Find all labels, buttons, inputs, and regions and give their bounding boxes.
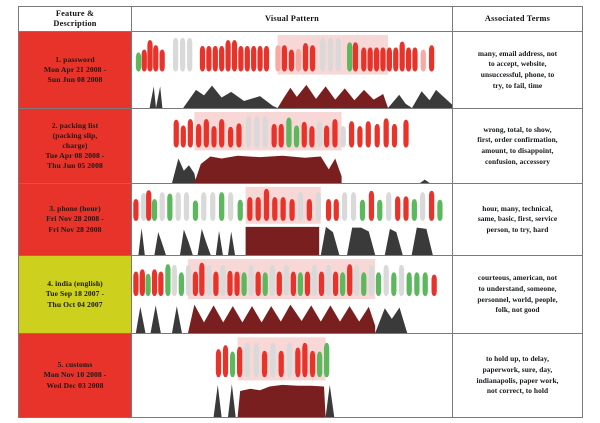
pattern-bar [246, 116, 251, 147]
pattern-bar [238, 200, 243, 221]
feature-cell-3: 3. phone (hour) Fri Nov 28 2008 - Fri No… [19, 184, 132, 256]
pattern-bar [349, 121, 354, 147]
pattern-bar [407, 272, 412, 296]
pattern-bar [324, 125, 329, 147]
terms-line: courteous, american, not [453, 273, 582, 284]
pattern-bar [361, 272, 366, 296]
pattern-bar [303, 43, 308, 71]
pattern-bar [211, 126, 216, 147]
visual-pattern-cell-3 [132, 184, 453, 256]
terms-line: unsuccessful, phone, to [453, 70, 582, 81]
pattern-bar [376, 272, 381, 296]
pattern-bar [414, 272, 419, 296]
pattern-bar [287, 343, 292, 377]
pattern-bar [406, 47, 411, 71]
terms-line: personnel, world, people, [453, 295, 582, 306]
pattern-svg [132, 32, 452, 108]
pattern-bar [223, 345, 228, 377]
pattern-bar [145, 274, 150, 296]
pattern-bar [399, 265, 404, 296]
column-header-feature-line1: Feature & [19, 9, 131, 19]
pattern-bar [429, 191, 434, 221]
terms-line: not correct, to hold [453, 386, 582, 397]
pattern-bar [236, 123, 241, 147]
pattern-bar [256, 272, 261, 296]
pattern-bar [213, 272, 218, 296]
terms-line: to hold up, to delay, [453, 354, 582, 365]
pattern-bar [368, 47, 373, 71]
pattern-bar [295, 348, 300, 377]
terms-line: paperwork, sure, day, [453, 365, 582, 376]
pattern-bar [204, 119, 209, 147]
pattern-bar [180, 38, 185, 72]
pattern-bar [165, 264, 170, 296]
pattern-bar [320, 38, 325, 72]
visual-pattern-cell-1 [132, 32, 453, 109]
pattern-bar [146, 190, 151, 221]
feature-title-5: 5. customs [19, 360, 131, 370]
pattern-bar [275, 45, 280, 71]
pattern-bar [210, 192, 215, 221]
pattern-bar [206, 265, 211, 296]
pattern-bar [360, 200, 365, 221]
area-series-highlight [194, 156, 341, 183]
associated-terms-cell-5: to hold up, to delay, paperwork, sure, d… [453, 334, 583, 418]
pattern-bar [305, 272, 310, 296]
pattern-bar [395, 196, 400, 221]
pattern-bar [333, 272, 338, 296]
feature-title-2: 2. packing list [19, 121, 131, 131]
pattern-bar [307, 199, 312, 221]
pattern-bar [317, 352, 322, 377]
pattern-bar [160, 50, 165, 72]
pattern-bar [369, 265, 374, 296]
pattern-bar [326, 265, 331, 296]
pattern-bar [272, 124, 277, 147]
pattern-bar [420, 192, 425, 221]
feature-subtitle-2-line2: charge) [19, 141, 131, 151]
visual-pattern-table-page: Feature & Description Visual Pattern Ass… [0, 0, 600, 423]
terms-line: to understand, someone, [453, 284, 582, 295]
terms-line: same, basic, first, service [453, 214, 582, 225]
pattern-bar [160, 192, 165, 221]
pattern-bar [341, 126, 346, 147]
feature-title-4: 4. india (english) [19, 279, 131, 289]
feature-date-start-4: Tue Sep 18 2007 - [19, 289, 131, 299]
area-series-highlight [246, 227, 320, 255]
pattern-chart-2 [132, 109, 452, 183]
pattern-bar [291, 272, 296, 296]
feature-date-start-1: Mon Apr 21 2008 - [19, 65, 131, 75]
pattern-bar [142, 50, 147, 72]
pattern-bar [228, 127, 233, 148]
pattern-bar [340, 272, 345, 296]
pattern-bar [213, 46, 218, 72]
feature-subtitle-2-line1: (packing slip, [19, 131, 131, 141]
pattern-bar [336, 38, 341, 72]
pattern-bar [179, 272, 184, 296]
pattern-bar [230, 352, 235, 377]
pattern-bar [238, 46, 243, 72]
pattern-bar [432, 275, 437, 296]
feature-title-1: 1. password [19, 55, 131, 65]
pattern-svg [132, 334, 452, 417]
pattern-chart-5 [132, 334, 452, 417]
pattern-bar [228, 192, 233, 221]
pattern-bar [152, 269, 157, 296]
pattern-bar [342, 192, 347, 221]
pattern-bar [262, 351, 267, 377]
pattern-bar [245, 343, 250, 377]
pattern-bar [334, 199, 339, 221]
pattern-bar [400, 42, 405, 72]
pattern-bar [256, 197, 261, 221]
feature-cell-5: 5. customs Mon Nov 10 2008 - Wed Dec 03 … [19, 334, 132, 418]
pattern-bar [167, 194, 172, 221]
pattern-svg [132, 184, 452, 255]
pattern-bar [181, 125, 186, 147]
pattern-bar [219, 119, 224, 147]
pattern-bar [369, 191, 374, 221]
pattern-bar [187, 38, 192, 72]
feature-date-start-5: Mon Nov 10 2008 - [19, 370, 131, 380]
feature-date-end-2: Thu Jun 05 2008 [19, 161, 131, 171]
pattern-bar [172, 265, 177, 296]
terms-line: try, to fail, time [453, 81, 582, 92]
terms-line: person, to try, hard [453, 225, 582, 236]
pattern-bar [317, 121, 322, 147]
terms-line: confusion, accessory [453, 157, 582, 168]
pattern-bar [302, 122, 307, 148]
feature-date-start-3: Fri Nov 28 2008 - [19, 214, 131, 224]
visual-pattern-cell-2 [132, 109, 453, 184]
pattern-svg [132, 256, 452, 333]
pattern-bar [199, 263, 204, 296]
pattern-bar [384, 118, 389, 147]
terms-line: many, email address, not [453, 49, 582, 60]
pattern-bar [264, 189, 269, 221]
visual-pattern-cell-4 [132, 256, 453, 334]
pattern-bar [216, 349, 221, 377]
column-header-feature: Feature & Description [19, 7, 132, 32]
pattern-bar [206, 46, 211, 72]
pattern-bar [140, 269, 145, 296]
feature-pattern-matrix: Feature & Description Visual Pattern Ass… [18, 6, 583, 418]
pattern-bar [294, 125, 299, 147]
pattern-bar [232, 40, 237, 71]
pattern-bar [319, 272, 324, 296]
feature-cell-4: 4. india (english) Tue Sep 18 2007 - Thu… [19, 256, 132, 334]
pattern-bar [184, 192, 189, 221]
terms-line: hour, many, technical, [453, 204, 582, 215]
pattern-svg [132, 109, 452, 183]
pattern-bar [351, 192, 356, 221]
pattern-chart-1 [132, 32, 452, 108]
feature-date-start-2: Tue Apr 08 2008 - [19, 151, 131, 161]
pattern-bar [133, 199, 138, 221]
pattern-bar [153, 45, 158, 71]
pattern-bar [377, 200, 382, 221]
pattern-bar [326, 199, 331, 221]
pattern-bar [254, 343, 259, 377]
pattern-bar [393, 47, 398, 71]
table-row: 1. password Mon Apr 21 2008 - Sun Jun 08… [19, 32, 583, 109]
pattern-bar [272, 197, 277, 221]
pattern-bar [298, 272, 303, 296]
terms-line: to accept, website, [453, 59, 582, 70]
pattern-bar [176, 192, 181, 221]
pattern-bar [133, 272, 138, 296]
pattern-bar [186, 265, 191, 296]
feature-cell-1: 1. password Mon Apr 21 2008 - Sun Jun 08… [19, 32, 132, 109]
pattern-bar [277, 272, 282, 296]
pattern-bar [316, 192, 321, 221]
pattern-bar [347, 264, 352, 296]
pattern-bar [136, 53, 141, 72]
pattern-bar [437, 200, 442, 221]
feature-title-3: 3. phone (hour) [19, 204, 131, 214]
pattern-bar [282, 45, 287, 71]
pattern-bar [309, 126, 314, 147]
terms-line: amount, to disappoint, [453, 146, 582, 157]
pattern-bar [227, 271, 232, 296]
pattern-bar [286, 118, 291, 148]
terms-line: first, order confirmation, [453, 135, 582, 146]
table-body: 1. password Mon Apr 21 2008 - Sun Jun 08… [19, 32, 583, 418]
pattern-bar [366, 121, 371, 147]
pattern-bar [310, 351, 315, 377]
pattern-bar [347, 42, 352, 71]
pattern-bar [196, 124, 201, 147]
pattern-bar [158, 272, 163, 296]
pattern-bar [296, 49, 301, 72]
pattern-bar [152, 199, 157, 221]
pattern-bar [361, 47, 366, 71]
pattern-bar [423, 272, 428, 296]
pattern-bar [387, 47, 392, 71]
pattern-bar [328, 38, 333, 72]
area-series-highlight [278, 85, 388, 108]
pattern-bar [251, 46, 256, 72]
pattern-chart-3 [132, 184, 452, 255]
pattern-bar [270, 343, 275, 377]
pattern-bar [391, 272, 396, 296]
pattern-bar [412, 199, 417, 221]
associated-terms-cell-2: wrong, total, to show, first, order conf… [453, 109, 583, 184]
table-row: 2. packing list (packing slip, charge) T… [19, 109, 583, 184]
pattern-bar [280, 197, 285, 221]
pattern-bar [421, 50, 426, 72]
pattern-bar [220, 265, 225, 296]
pattern-bar [284, 265, 289, 296]
pattern-bar [234, 272, 239, 296]
pattern-bar [219, 192, 224, 221]
terms-line: folk, not good [453, 305, 582, 316]
feature-date-end-5: Wed Dec 03 2008 [19, 381, 131, 391]
pattern-bar [193, 200, 198, 220]
pattern-bar [141, 193, 146, 221]
visual-pattern-cell-5 [132, 334, 453, 418]
pattern-bar [174, 120, 179, 148]
pattern-chart-4 [132, 256, 452, 333]
pattern-bar [403, 196, 408, 221]
pattern-bar [302, 343, 307, 377]
pattern-bar [324, 343, 329, 377]
associated-terms-cell-1: many, email address, not to accept, webs… [453, 32, 583, 109]
feature-date-end-3: Fri Nov 28 2008 [19, 225, 131, 235]
pattern-bar [241, 272, 246, 296]
pattern-bar [263, 116, 268, 147]
pattern-bar [380, 47, 385, 71]
pattern-bar [332, 119, 337, 147]
pattern-bar [200, 46, 205, 72]
pattern-bar [247, 197, 252, 221]
pattern-bar [310, 45, 315, 71]
column-header-feature-line2: Description [19, 19, 131, 29]
pattern-bar [289, 50, 294, 72]
column-header-associated-terms: Associated Terms [453, 7, 583, 32]
pattern-bar [353, 42, 358, 71]
pattern-bar [193, 272, 198, 296]
feature-date-end-4: Thu Oct 04 2007 [19, 300, 131, 310]
pattern-bar [248, 265, 253, 296]
pattern-bar [270, 265, 275, 296]
pattern-bar [264, 46, 269, 72]
table-row: 5. customs Mon Nov 10 2008 - Wed Dec 03 … [19, 334, 583, 418]
associated-terms-cell-4: courteous, american, not to understand, … [453, 256, 583, 334]
pattern-bar [298, 192, 303, 221]
pattern-bar [225, 40, 230, 71]
pattern-bar [201, 192, 206, 221]
pattern-bar [257, 46, 262, 72]
pattern-bar [245, 46, 250, 72]
feature-date-end-1: Sun Jun 08 2008 [19, 75, 131, 85]
pattern-bar [412, 47, 417, 71]
pattern-bar [312, 265, 317, 296]
terms-line: wrong, total, to show, [453, 125, 582, 136]
pattern-bar [392, 124, 397, 147]
pattern-bar [237, 347, 242, 377]
pattern-bar [375, 124, 380, 147]
feature-cell-2: 2. packing list (packing slip, charge) T… [19, 109, 132, 184]
terms-line: indianapolis, paper work, [453, 376, 582, 387]
pattern-bar [219, 46, 224, 72]
pattern-bar [289, 199, 294, 221]
pattern-bar [263, 272, 268, 296]
pattern-bar [403, 120, 408, 148]
pattern-bar [173, 38, 178, 72]
pattern-bar [279, 124, 284, 147]
pattern-bar [384, 265, 389, 296]
pattern-bar [279, 351, 284, 377]
table-row: 3. phone (hour) Fri Nov 28 2008 - Fri No… [19, 184, 583, 256]
table-row: 4. india (english) Tue Sep 18 2007 - Thu… [19, 256, 583, 334]
pattern-bar [254, 116, 259, 147]
pattern-bar [357, 126, 362, 147]
pattern-bar [374, 47, 379, 71]
pattern-bar [386, 192, 391, 221]
pattern-bar [429, 45, 434, 71]
area-series-highlight [238, 385, 326, 417]
pattern-bar [188, 119, 193, 147]
header-row: Feature & Description Visual Pattern Ass… [19, 7, 583, 32]
pattern-bar [354, 265, 359, 296]
associated-terms-cell-3: hour, many, technical, same, basic, firs… [453, 184, 583, 256]
pattern-bar [147, 40, 152, 71]
table-header: Feature & Description Visual Pattern Ass… [19, 7, 583, 32]
area-series-highlight [188, 305, 375, 333]
column-header-visual-pattern: Visual Pattern [132, 7, 453, 32]
